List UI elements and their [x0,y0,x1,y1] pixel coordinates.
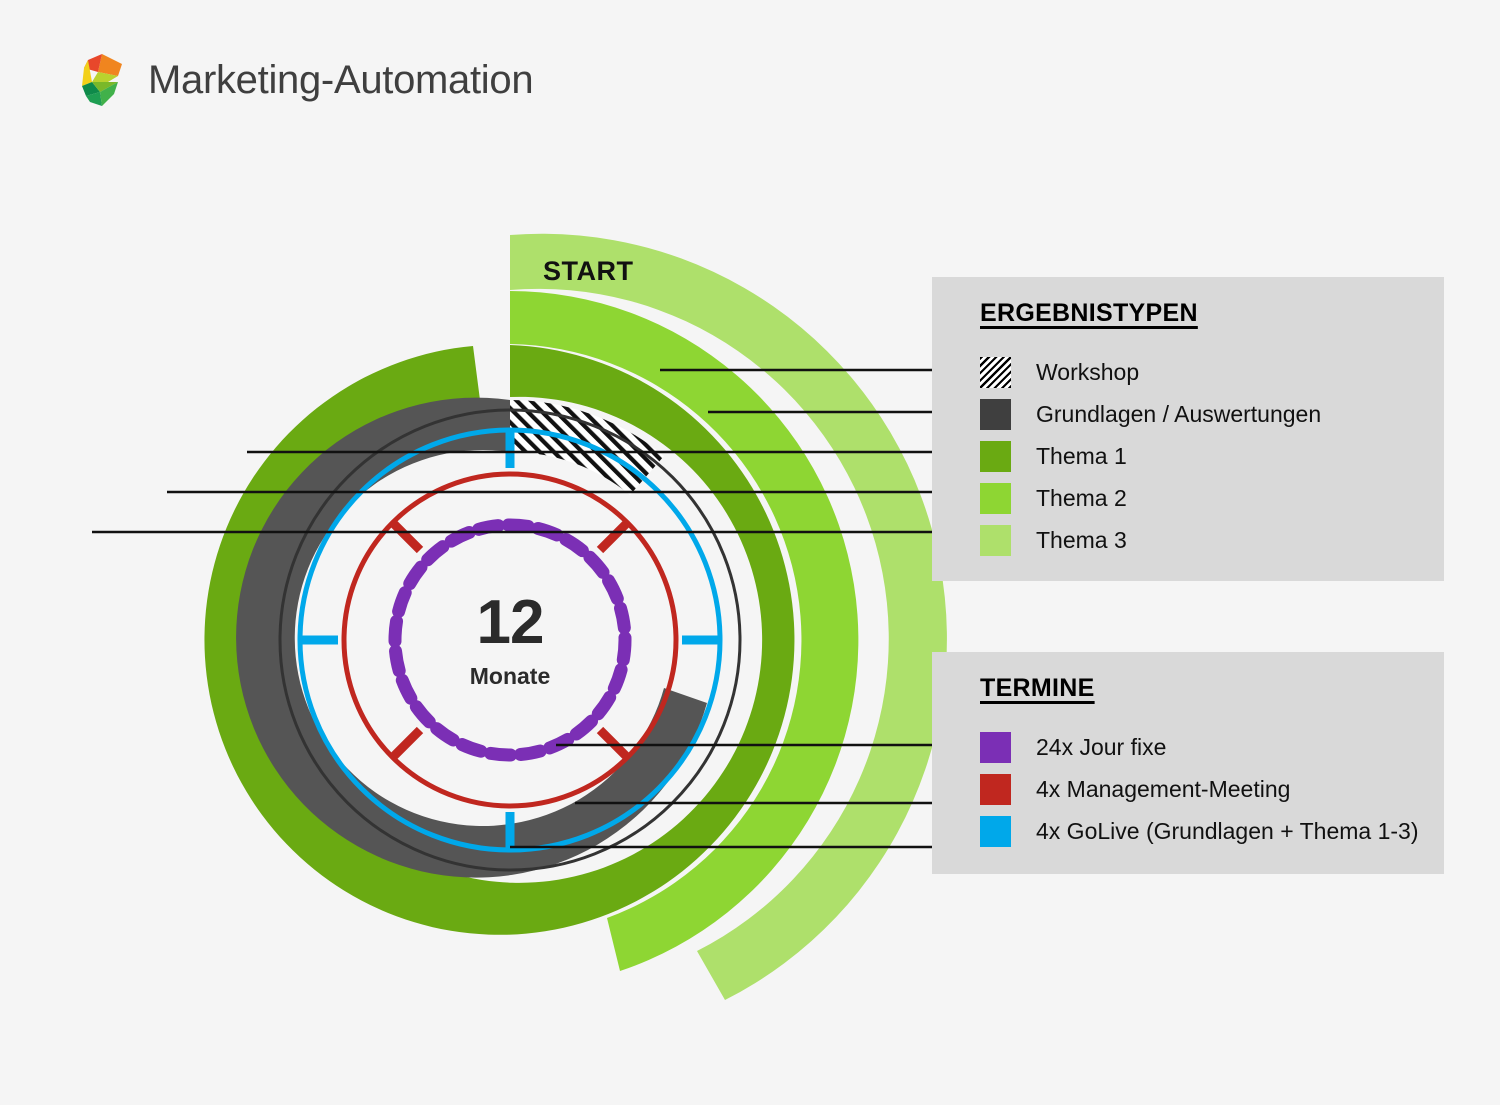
center-duration-value: 12 [0,592,1020,654]
swatch-grundlagen-icon [980,399,1011,430]
management-tick-3 [393,730,420,757]
legend-termine-title: TERMINE [980,674,1095,703]
legend-item-workshop-label: Workshop [1036,361,1139,384]
management-tick-4 [393,523,420,550]
legend-item-thema-2[interactable]: Thema 2 [980,477,1430,519]
legend-item-management-meeting-label: 4x Management-Meeting [1036,778,1290,801]
legend-item-thema-3[interactable]: Thema 3 [980,519,1430,561]
start-label: START [543,256,634,287]
legend-item-workshop[interactable]: Workshop [980,351,1430,393]
center-duration-unit: Monate [0,665,1020,688]
swatch-workshop-icon [980,357,1011,388]
legend-item-thema-2-label: Thema 2 [1036,487,1127,510]
legend-item-jour-fixe-label: 24x Jour fixe [1036,736,1166,759]
legend-item-golive-label: 4x GoLive (Grundlagen + Thema 1-3) [1036,820,1418,843]
legend-item-golive[interactable]: 4x GoLive (Grundlagen + Thema 1-3) [980,810,1430,852]
legend-ergebnistypen-title: ERGEBNISTYPEN [980,299,1198,328]
legend-termine: TERMINE 24x Jour fixe 4x Management-Meet… [932,652,1444,874]
swatch-thema-2-icon [980,483,1011,514]
swatch-golive-icon [980,816,1011,847]
legend-item-grundlagen-auswertungen[interactable]: Grundlagen / Auswertungen [980,393,1430,435]
legend-item-thema-3-label: Thema 3 [1036,529,1127,552]
legend-ergebnistypen-items: Workshop Grundlagen / Auswertungen Thema… [980,351,1430,561]
legend-item-thema-1-label: Thema 1 [1036,445,1127,468]
management-tick-1 [600,523,627,550]
swatch-thema-3-icon [980,525,1011,556]
roadmap-svg [0,0,960,1100]
legend-termine-items: 24x Jour fixe 4x Management-Meeting 4x G… [980,726,1430,852]
legend-ergebnistypen: ERGEBNISTYPEN Workshop Grundlagen / Ausw… [932,277,1444,581]
swatch-jour-fixe-icon [980,732,1011,763]
legend-item-grundlagen-label: Grundlagen / Auswertungen [1036,403,1321,426]
legend-item-thema-1[interactable]: Thema 1 [980,435,1430,477]
legend-item-jour-fixe[interactable]: 24x Jour fixe [980,726,1430,768]
roadmap-diagram: START 12 Monate [0,0,960,1100]
swatch-management-meeting-icon [980,774,1011,805]
legend-item-management-meeting[interactable]: 4x Management-Meeting [980,768,1430,810]
management-tick-2 [600,730,627,757]
swatch-thema-1-icon [980,441,1011,472]
